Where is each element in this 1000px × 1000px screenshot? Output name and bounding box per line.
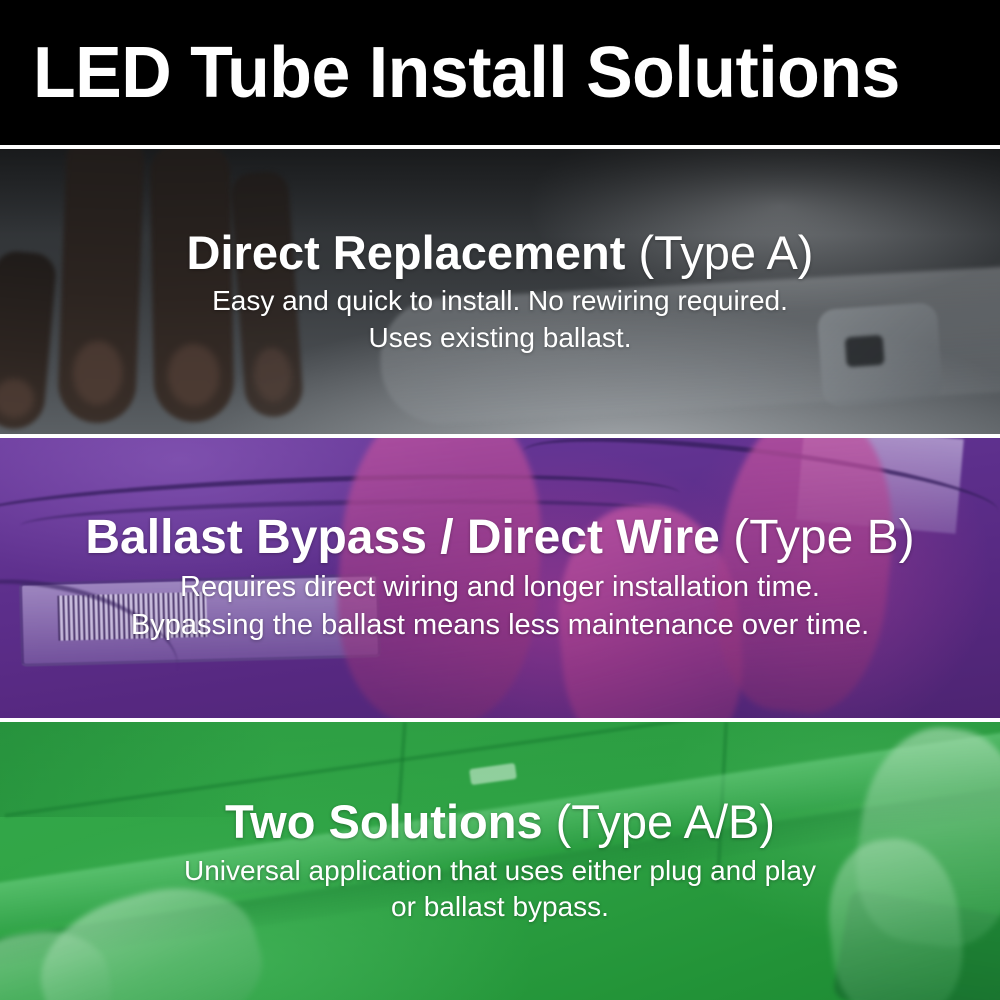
- panel-ballast-bypass: Ballast Bypass / Direct Wire (Type B) Re…: [0, 438, 1000, 718]
- panel-two-solutions-body: Universal application that uses either p…: [16, 853, 984, 926]
- type-tag-label: (Type A/B): [556, 795, 775, 848]
- page-title: LED Tube Install Solutions: [0, 37, 900, 109]
- heading-label: Ballast Bypass / Direct Wire: [85, 511, 720, 564]
- body-line: Bypassing the ballast means less mainten…: [16, 607, 984, 645]
- panel-direct-replacement-body: Easy and quick to install. No rewiring r…: [16, 283, 984, 356]
- panel-ballast-bypass-body: Requires direct wiring and longer instal…: [16, 569, 984, 644]
- heading-label: Two Solutions: [225, 795, 543, 848]
- panel-direct-replacement: Direct Replacement (Type A) Easy and qui…: [0, 149, 1000, 434]
- body-line: Easy and quick to install. No rewiring r…: [16, 283, 984, 319]
- panel-direct-replacement-text: Direct Replacement (Type A) Easy and qui…: [0, 227, 1000, 356]
- led-tube-install-infographic: LED Tube Install Solutions Direct Replac…: [0, 0, 1000, 1000]
- type-tag-label: (Type A): [638, 226, 813, 279]
- body-line: or ballast bypass.: [16, 889, 984, 925]
- body-line: Requires direct wiring and longer instal…: [16, 569, 984, 607]
- body-line: Uses existing ballast.: [16, 320, 984, 356]
- panel-two-solutions-text: Two Solutions (Type A/B) Universal appli…: [0, 796, 1000, 925]
- header-banner: LED Tube Install Solutions: [0, 0, 1000, 145]
- panel-two-solutions: Two Solutions (Type A/B) Universal appli…: [0, 722, 1000, 1000]
- type-tag-label: (Type B): [733, 511, 914, 564]
- panel-ballast-bypass-text: Ballast Bypass / Direct Wire (Type B) Re…: [0, 511, 1000, 644]
- panel-direct-replacement-heading: Direct Replacement (Type A): [16, 227, 984, 280]
- panel-two-solutions-heading: Two Solutions (Type A/B): [16, 796, 984, 849]
- panel-ballast-bypass-heading: Ballast Bypass / Direct Wire (Type B): [16, 511, 984, 565]
- heading-label: Direct Replacement: [187, 226, 626, 279]
- body-line: Universal application that uses either p…: [16, 853, 984, 889]
